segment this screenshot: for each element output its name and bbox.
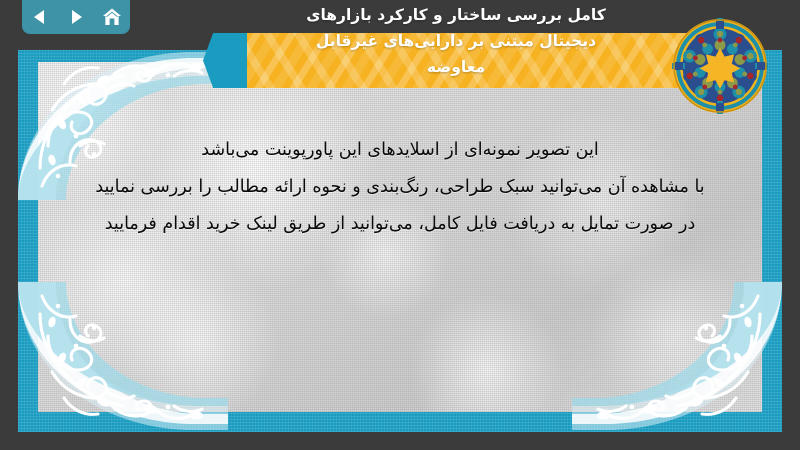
home-button[interactable] [99, 4, 125, 30]
body-line-2: با مشاهده آن می‌توانید سبک طراحی، رنگ‌بن… [58, 169, 742, 206]
body-line-3: در صورت تمایل به دریافت فایل کامل، می‌تو… [58, 206, 742, 243]
slide-frame: این تصویر نمونه‌ای از اسلایدهای این پاور… [18, 50, 782, 432]
slide-body-text: این تصویر نمونه‌ای از اسلایدهای این پاور… [58, 132, 742, 243]
title-line-2: دیجیتال مبتنی بر دارایی‌های غیرقابل [236, 28, 676, 54]
slide-viewer: این تصویر نمونه‌ای از اسلایدهای این پاور… [0, 0, 800, 450]
back-triangle-icon [31, 8, 49, 26]
body-line-1: این تصویر نمونه‌ای از اسلایدهای این پاور… [58, 132, 742, 169]
back-button[interactable] [27, 4, 53, 30]
title-line-3: معاوضه [236, 54, 676, 80]
persian-medallion-ornament-icon [672, 18, 768, 114]
slide-title: کامل بررسی ساختار و کارکرد بازارهای دیجی… [236, 2, 676, 80]
title-line-1: کامل بررسی ساختار و کارکرد بازارهای [236, 2, 676, 28]
home-icon [102, 7, 122, 27]
forward-triangle-icon [67, 8, 85, 26]
forward-button[interactable] [63, 4, 89, 30]
slide-navigation-bar [22, 0, 130, 34]
